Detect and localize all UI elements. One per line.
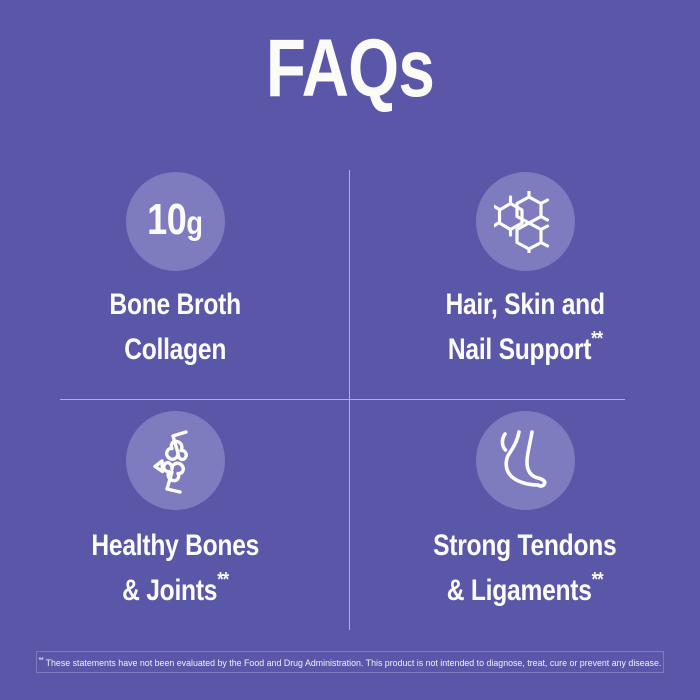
foot-ankle-icon: [492, 428, 558, 494]
feature-item-healthy-bones-joints: Healthy Bones & Joints**: [0, 395, 350, 630]
feature-item-strong-tendons-ligaments: Strong Tendons & Ligaments**: [350, 395, 700, 630]
feature-caption-dagger: **: [592, 569, 603, 591]
badge-value: 10: [147, 195, 186, 244]
feature-caption-dagger: **: [217, 569, 228, 591]
foot-icon-circle: [476, 411, 575, 510]
feature-item-hair-skin-nail-support: Hair, Skin and Nail Support**: [350, 160, 700, 395]
badge-unit: g: [187, 204, 203, 241]
disclaimer-body: These statements have not been evaluated…: [43, 658, 661, 669]
knee-joint-bone-icon: [142, 428, 208, 494]
feature-caption-text: Bone Broth Collagen: [109, 288, 240, 366]
feature-caption-text: Hair, Skin and Nail Support: [445, 288, 604, 366]
collagen-grams-badge-circle: 10g: [126, 172, 225, 271]
feature-caption: Healthy Bones & Joints**: [91, 528, 259, 608]
molecule-icon-circle: [476, 172, 575, 271]
page-title: FAQs: [70, 26, 630, 112]
feature-item-bone-broth-collagen: 10g Bone Broth Collagen: [0, 160, 350, 395]
feature-caption-text: Healthy Bones & Joints: [91, 529, 259, 607]
faq-card: FAQs 10g Bone Broth Collagen: [0, 0, 700, 700]
feature-caption-text: Strong Tendons & Ligaments: [433, 529, 616, 607]
feature-grid: 10g Bone Broth Collagen: [0, 160, 700, 630]
collagen-grams-badge: 10g: [147, 198, 202, 245]
disclaimer-text: ** These statements have not been evalua…: [39, 655, 662, 669]
knee-joint-icon-circle: [126, 411, 225, 510]
disclaimer-box: ** These statements have not been evalua…: [36, 651, 664, 673]
molecule-hexagons-icon: [494, 191, 556, 253]
feature-caption: Strong Tendons & Ligaments**: [433, 528, 616, 608]
feature-caption: Hair, Skin and Nail Support**: [445, 287, 604, 367]
feature-caption: Bone Broth Collagen: [109, 287, 240, 367]
feature-caption-dagger: **: [591, 328, 602, 350]
